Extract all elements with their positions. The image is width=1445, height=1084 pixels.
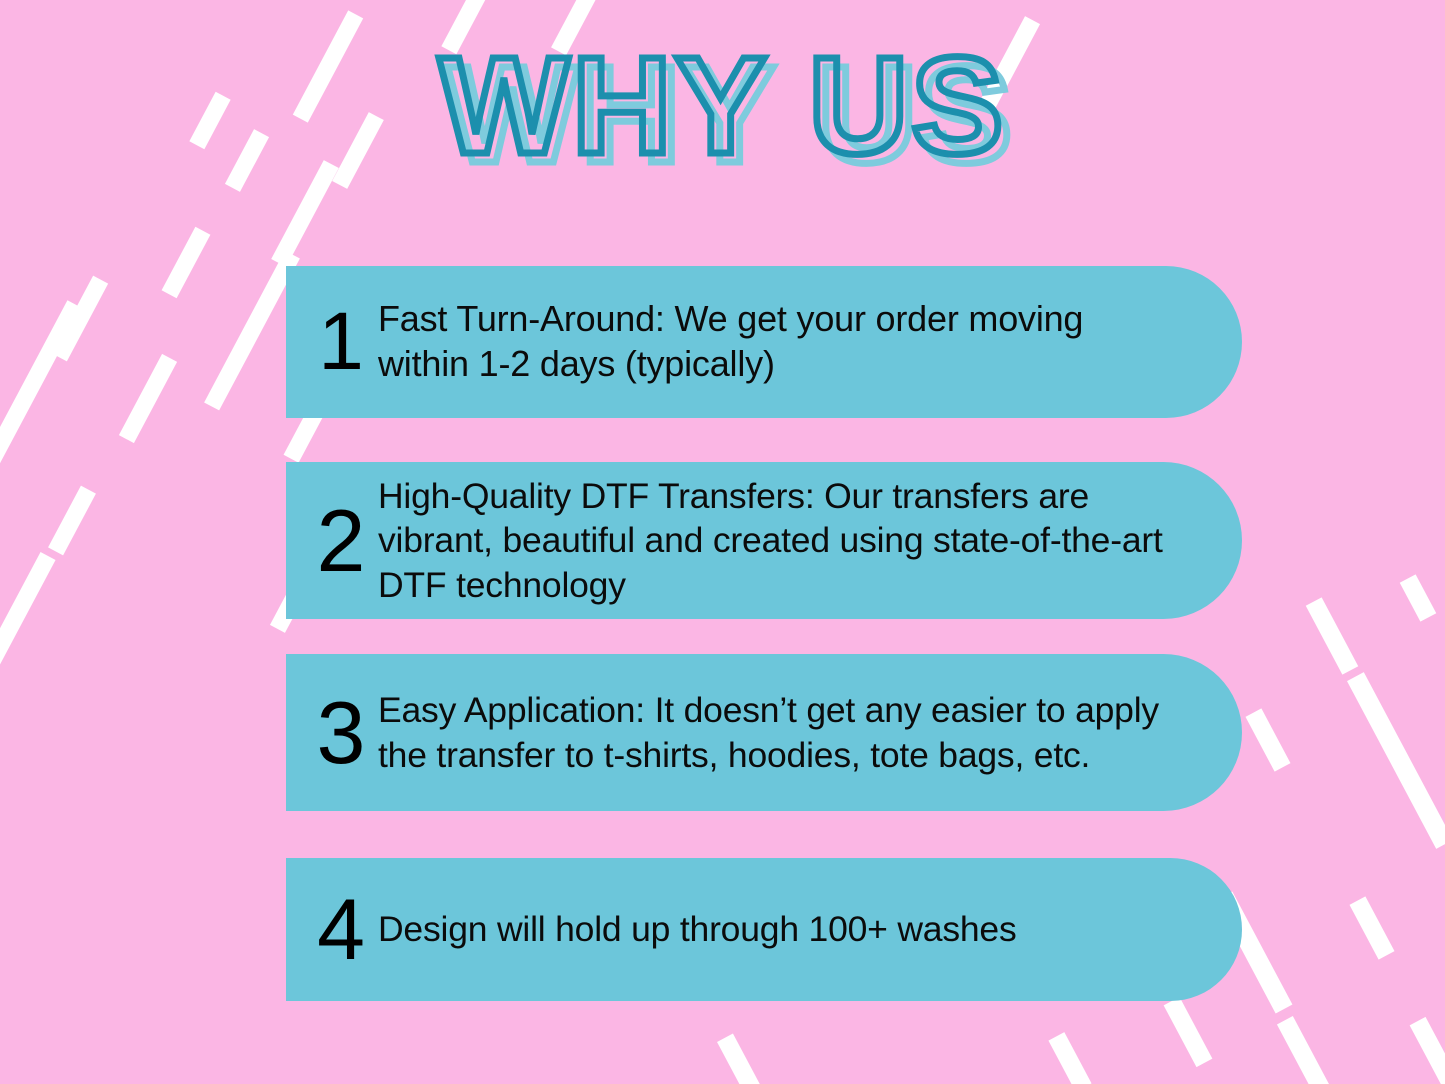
benefit-card-number: 3 <box>304 689 378 777</box>
upper-left-dash <box>119 353 177 442</box>
benefit-card: 2 High-Quality DTF Transfers: Our transf… <box>286 462 1242 619</box>
lower-right-dash <box>1306 597 1359 674</box>
upper-left-dash <box>162 226 211 298</box>
benefit-card-text: Design will hold up through 100+ washes <box>378 907 1242 951</box>
benefit-card: 1 Fast Turn-Around: We get your order mo… <box>286 266 1242 418</box>
lower-right-dash <box>1164 997 1213 1067</box>
lower-right-dash <box>1400 574 1437 621</box>
upper-left-dash <box>48 485 96 555</box>
benefit-card-number: 4 <box>304 887 378 973</box>
benefit-card-text: Fast Turn-Around: We get your order movi… <box>378 297 1242 386</box>
upper-left-dash <box>0 552 56 673</box>
benefit-card-number: 1 <box>304 301 378 383</box>
page-title: WHY US WHY US <box>0 36 1445 196</box>
lower-right-dash <box>1410 1017 1445 1084</box>
benefit-card: 3 Easy Application: It doesn’t get any e… <box>286 654 1242 811</box>
lower-right-dash <box>1347 672 1445 849</box>
lower-right-dash <box>1245 708 1290 771</box>
benefit-card-number: 2 <box>304 497 378 585</box>
poster-canvas: WHY US WHY US 1 Fast Turn-Around: We get… <box>0 0 1445 1084</box>
lower-right-dash <box>1277 1016 1335 1084</box>
benefit-card-text: High-Quality DTF Transfers: Our transfer… <box>378 474 1242 606</box>
upper-left-dash <box>0 300 82 485</box>
page-title-stroke-layer: WHY US <box>0 36 1445 177</box>
benefit-card-text: Easy Application: It doesn’t get any eas… <box>378 688 1242 776</box>
lower-right-dash <box>1349 896 1394 959</box>
benefit-card: 4 Design will hold up through 100+ washe… <box>286 858 1242 1001</box>
lower-right-dash <box>717 1034 763 1084</box>
upper-left-dash <box>52 275 108 361</box>
lower-right-dash <box>1048 1032 1091 1084</box>
